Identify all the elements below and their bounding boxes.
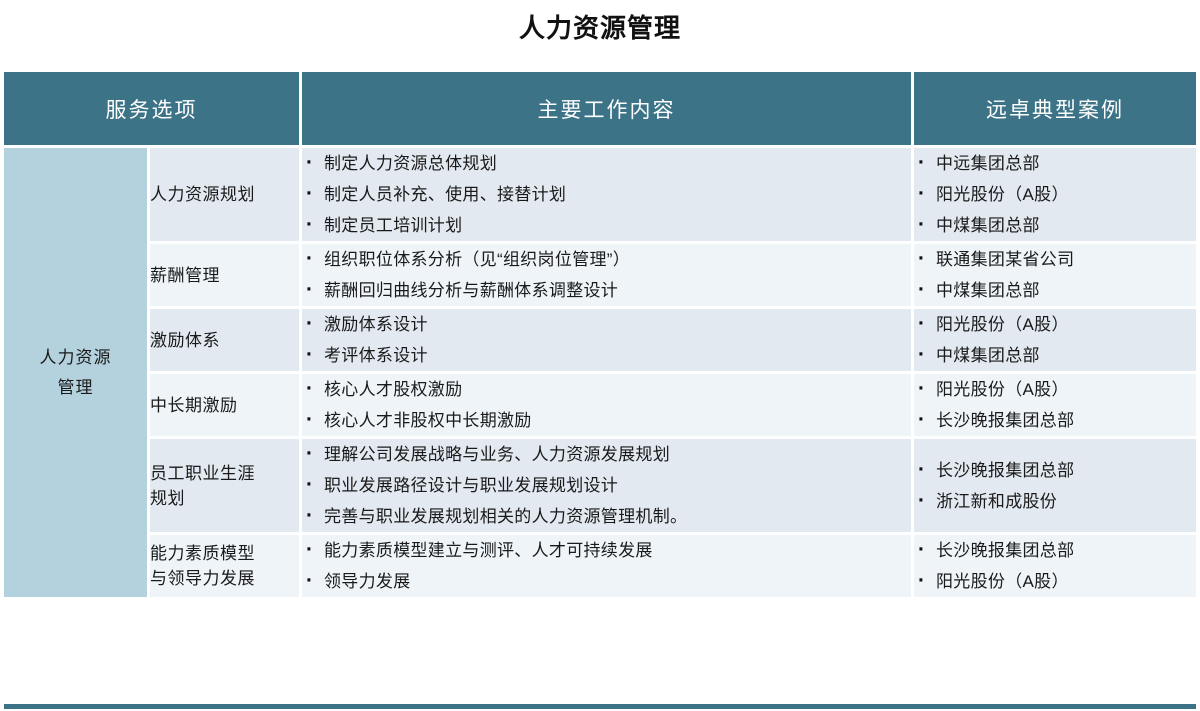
- case-list: 联通集团某省公司 中煤集团总部: [914, 244, 1196, 306]
- table-header-row: 服务选项 主要工作内容 远卓典型案例: [4, 72, 1196, 145]
- work-content-cell: 激励体系设计 考评体系设计: [302, 306, 914, 371]
- service-option-line1: 中长期激励: [150, 393, 299, 418]
- case-list: 中远集团总部 阳光股份（A股） 中煤集团总部: [914, 148, 1196, 241]
- list-item: 领导力发展: [302, 566, 911, 597]
- work-content-list: 激励体系设计 考评体系设计: [302, 309, 911, 371]
- case-list: 阳光股份（A股） 长沙晚报集团总部: [914, 374, 1196, 436]
- table-row: 员工职业生涯 规划 理解公司发展战略与业务、人力资源发展规划 职业发展路径设计与…: [4, 436, 1196, 532]
- work-content-cell: 理解公司发展战略与业务、人力资源发展规划 职业发展路径设计与职业发展规划设计 完…: [302, 436, 914, 532]
- case-cell: 长沙晚报集团总部 阳光股份（A股）: [914, 532, 1196, 597]
- work-content-list: 理解公司发展战略与业务、人力资源发展规划 职业发展路径设计与职业发展规划设计 完…: [302, 439, 911, 532]
- work-content-list: 组织职位体系分析（见“组织岗位管理”） 薪酬回归曲线分析与薪酬体系调整设计: [302, 244, 911, 306]
- list-item: 中煤集团总部: [914, 340, 1196, 371]
- list-item: 阳光股份（A股）: [914, 374, 1196, 405]
- table-row: 能力素质模型 与领导力发展 能力素质模型建立与测评、人才可持续发展 领导力发展 …: [4, 532, 1196, 597]
- service-option-cell: 人力资源规划: [150, 145, 302, 241]
- work-content-cell: 组织职位体系分析（见“组织岗位管理”） 薪酬回归曲线分析与薪酬体系调整设计: [302, 241, 914, 306]
- work-content-cell: 核心人才股权激励 核心人才非股权中长期激励: [302, 371, 914, 436]
- case-list: 长沙晚报集团总部 阳光股份（A股）: [914, 535, 1196, 597]
- list-item: 完善与职业发展规划相关的人力资源管理机制。: [302, 501, 911, 532]
- list-item: 理解公司发展战略与业务、人力资源发展规划: [302, 439, 911, 470]
- case-cell: 中远集团总部 阳光股份（A股） 中煤集团总部: [914, 145, 1196, 241]
- work-content-list: 能力素质模型建立与测评、人才可持续发展 领导力发展: [302, 535, 911, 597]
- list-item: 制定员工培训计划: [302, 210, 911, 241]
- bottom-accent-rule: [4, 704, 1196, 709]
- service-option-cell: 中长期激励: [150, 371, 302, 436]
- service-option-line2: 规划: [150, 486, 299, 511]
- group-label-line1: 人力资源: [4, 343, 147, 373]
- list-item: 浙江新和成股份: [914, 486, 1196, 517]
- group-label-cell: 人力资源 管理: [4, 145, 150, 597]
- list-item: 长沙晚报集团总部: [914, 405, 1196, 436]
- list-item: 中远集团总部: [914, 148, 1196, 179]
- list-item: 激励体系设计: [302, 309, 911, 340]
- header-main-work-content: 主要工作内容: [302, 72, 914, 145]
- work-content-cell: 制定人力资源总体规划 制定人员补充、使用、接替计划 制定员工培训计划: [302, 145, 914, 241]
- hr-services-table: 服务选项 主要工作内容 远卓典型案例 人力资源 管理 人力资源规划 制定人力资源…: [4, 72, 1196, 597]
- list-item: 核心人才股权激励: [302, 374, 911, 405]
- case-cell: 联通集团某省公司 中煤集团总部: [914, 241, 1196, 306]
- header-service-option: 服务选项: [4, 72, 302, 145]
- service-option-line1: 激励体系: [150, 328, 299, 353]
- work-content-list: 制定人力资源总体规划 制定人员补充、使用、接替计划 制定员工培训计划: [302, 148, 911, 241]
- list-item: 中煤集团总部: [914, 275, 1196, 306]
- list-item: 长沙晚报集团总部: [914, 535, 1196, 566]
- list-item: 阳光股份（A股）: [914, 179, 1196, 210]
- work-content-cell: 能力素质模型建立与测评、人才可持续发展 领导力发展: [302, 532, 914, 597]
- table-row: 中长期激励 核心人才股权激励 核心人才非股权中长期激励 阳光股份（A股） 长沙晚…: [4, 371, 1196, 436]
- list-item: 阳光股份（A股）: [914, 566, 1196, 597]
- list-item: 能力素质模型建立与测评、人才可持续发展: [302, 535, 911, 566]
- list-item: 阳光股份（A股）: [914, 309, 1196, 340]
- table-row: 人力资源 管理 人力资源规划 制定人力资源总体规划 制定人员补充、使用、接替计划…: [4, 145, 1196, 241]
- list-item: 考评体系设计: [302, 340, 911, 371]
- list-item: 联通集团某省公司: [914, 244, 1196, 275]
- case-cell: 阳光股份（A股） 长沙晚报集团总部: [914, 371, 1196, 436]
- list-item: 中煤集团总部: [914, 210, 1196, 241]
- table-body: 人力资源 管理 人力资源规划 制定人力资源总体规划 制定人员补充、使用、接替计划…: [4, 145, 1196, 597]
- table-row: 薪酬管理 组织职位体系分析（见“组织岗位管理”） 薪酬回归曲线分析与薪酬体系调整…: [4, 241, 1196, 306]
- service-option-line1: 员工职业生涯: [150, 461, 299, 486]
- slide-page: 人力资源管理 服务选项 主要工作内容 远卓典型案例 人力资源 管理: [0, 0, 1200, 711]
- list-item: 核心人才非股权中长期激励: [302, 405, 911, 436]
- case-cell: 阳光股份（A股） 中煤集团总部: [914, 306, 1196, 371]
- group-label-line2: 管理: [4, 373, 147, 403]
- list-item: 长沙晚报集团总部: [914, 455, 1196, 486]
- service-option-cell: 能力素质模型 与领导力发展: [150, 532, 302, 597]
- list-item: 制定人力资源总体规划: [302, 148, 911, 179]
- case-list: 长沙晚报集团总部 浙江新和成股份: [914, 455, 1196, 517]
- page-title: 人力资源管理: [0, 0, 1200, 52]
- service-option-line1: 薪酬管理: [150, 263, 299, 288]
- case-cell: 长沙晚报集团总部 浙江新和成股份: [914, 436, 1196, 532]
- header-typical-cases: 远卓典型案例: [914, 72, 1196, 145]
- table-row: 激励体系 激励体系设计 考评体系设计 阳光股份（A股） 中煤集团总部: [4, 306, 1196, 371]
- service-option-cell: 激励体系: [150, 306, 302, 371]
- work-content-list: 核心人才股权激励 核心人才非股权中长期激励: [302, 374, 911, 436]
- case-list: 阳光股份（A股） 中煤集团总部: [914, 309, 1196, 371]
- service-option-line1: 人力资源规划: [150, 182, 299, 207]
- list-item: 制定人员补充、使用、接替计划: [302, 179, 911, 210]
- list-item: 组织职位体系分析（见“组织岗位管理”）: [302, 244, 911, 275]
- list-item: 薪酬回归曲线分析与薪酬体系调整设计: [302, 275, 911, 306]
- list-item: 职业发展路径设计与职业发展规划设计: [302, 470, 911, 501]
- service-option-cell: 员工职业生涯 规划: [150, 436, 302, 532]
- service-option-cell: 薪酬管理: [150, 241, 302, 306]
- service-option-line1: 能力素质模型: [150, 541, 299, 566]
- service-option-line2: 与领导力发展: [150, 566, 299, 591]
